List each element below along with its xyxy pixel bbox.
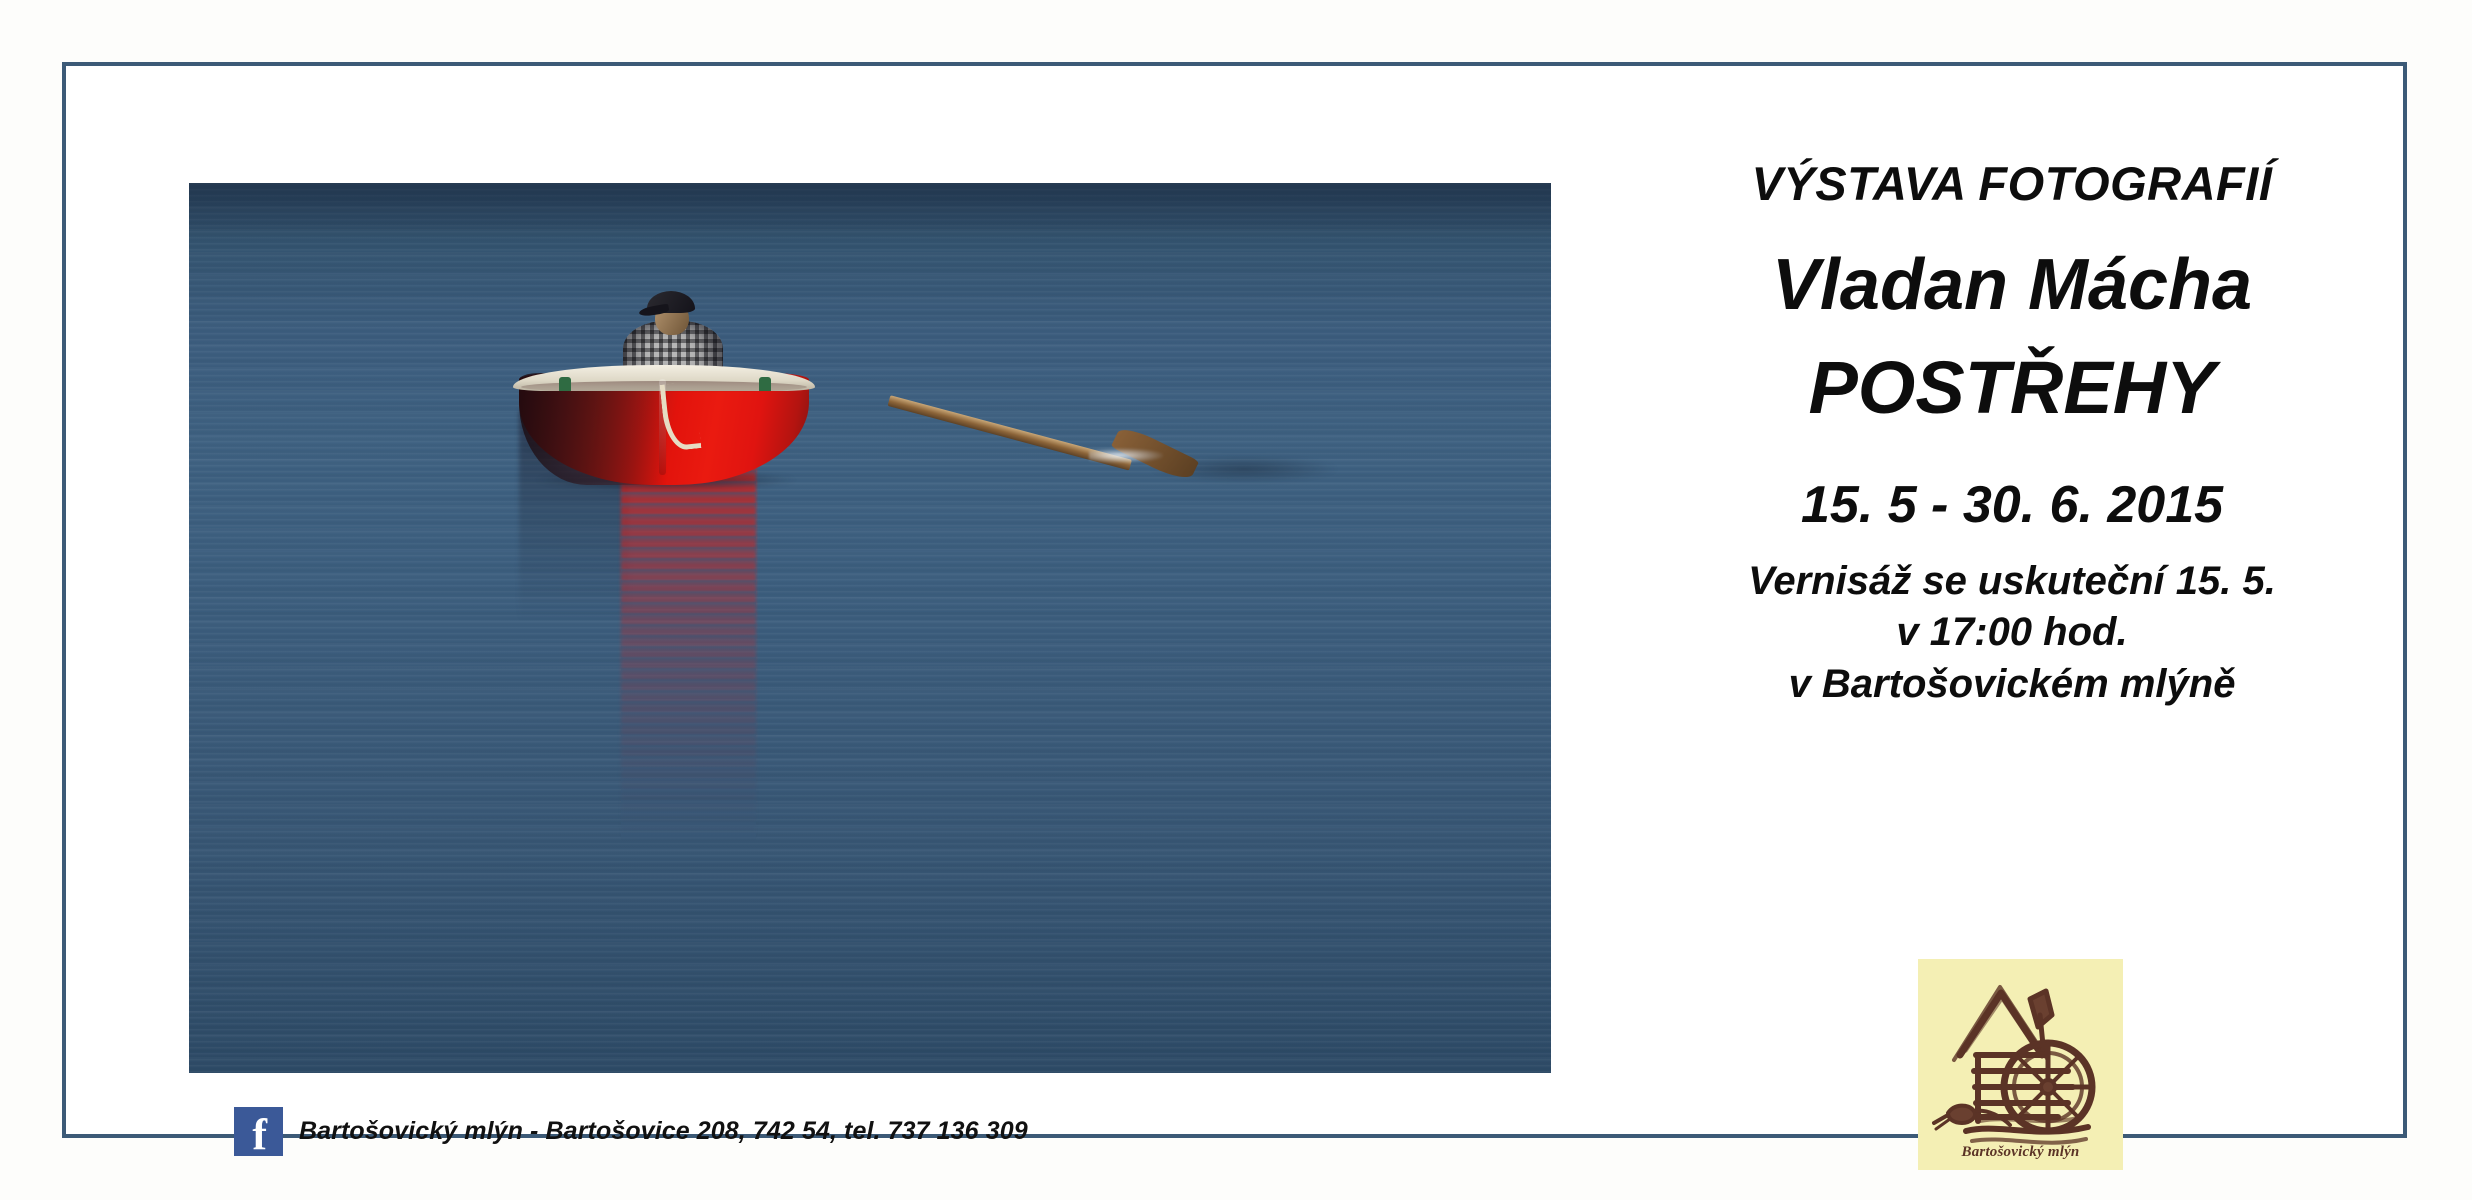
- water-ripples-secondary: [189, 183, 1551, 1073]
- exhibition-kicker: VÝSTAVA FOTOGRAFIÍ: [1582, 158, 2442, 210]
- opening-line-2: v 17:00 hod.: [1582, 607, 2442, 658]
- rowboat-photo: [189, 183, 1551, 1073]
- facebook-icon[interactable]: f: [234, 1107, 283, 1156]
- poster-root: f Bartošovický mlýn - Bartošovice 208, 7…: [0, 0, 2472, 1200]
- poster-text-column: VÝSTAVA FOTOGRAFIÍ Vladan Mácha POSTŘEHY…: [1582, 158, 2442, 710]
- contact-text: Bartošovický mlýn - Bartošovice 208, 742…: [299, 1117, 1028, 1146]
- artist-name: Vladan Mácha: [1582, 248, 2442, 324]
- exhibition-dates: 15. 5 - 30. 6. 2015: [1582, 477, 2442, 534]
- exhibition-title: POSTŘEHY: [1582, 349, 2442, 427]
- opening-line-1: Vernisáž se uskuteční 15. 5.: [1582, 556, 2442, 607]
- poster-frame: f Bartošovický mlýn - Bartošovice 208, 7…: [62, 62, 2407, 1138]
- logo-caption: Bartošovický mlýn: [1918, 1144, 2123, 1161]
- left-oarlock: [559, 377, 571, 391]
- opening-line-3: v Bartošovickém mlýně: [1582, 659, 2442, 710]
- rower-figure: [617, 287, 727, 377]
- opening-details: Vernisáž se uskuteční 15. 5. v 17:00 hod…: [1582, 556, 2442, 710]
- footer-contact-line: f Bartošovický mlýn - Bartošovice 208, 7…: [234, 1107, 1028, 1156]
- oar-splash: [1089, 448, 1163, 463]
- bartosovicky-mlyn-logo: Bartošovický mlýn: [1918, 959, 2123, 1170]
- facebook-glyph: f: [252, 1114, 267, 1156]
- mill-wheel-icon: [1918, 959, 2123, 1159]
- distant-water-haze: [189, 183, 1551, 243]
- right-oarlock: [759, 377, 771, 391]
- boat-hull: [519, 365, 809, 485]
